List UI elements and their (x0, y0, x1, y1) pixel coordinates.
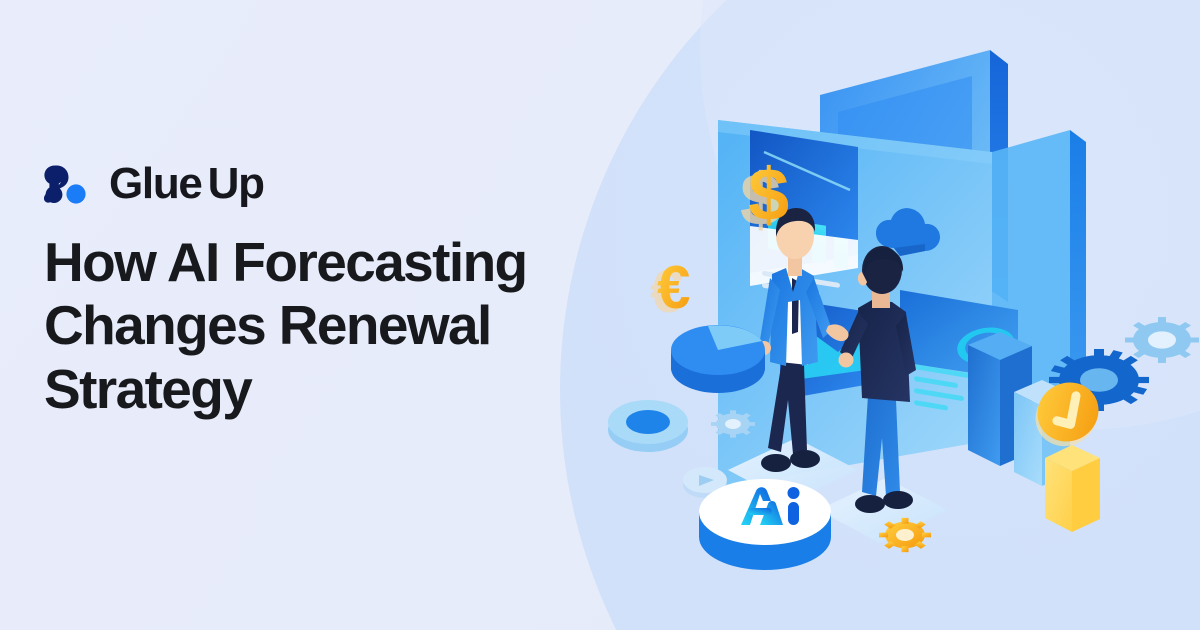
headline-line-1: How AI Forecasting (44, 231, 624, 294)
glueup-molecule-logo-icon (44, 163, 96, 205)
hero-illustration: $ $ € € (600, 40, 1200, 610)
brand-name-part2: Up (208, 159, 264, 208)
euro-sign-icon: € € (650, 254, 690, 325)
svg-text:€: € (657, 254, 690, 321)
headline-line-2: Changes Renewal (44, 294, 624, 357)
gear-icon-small (1125, 317, 1199, 363)
headline-line-3: Strategy (44, 358, 624, 421)
text-column: GlueUp How AI Forecasting Changes Renewa… (44, 158, 644, 421)
banner-root: GlueUp How AI Forecasting Changes Renewa… (0, 0, 1200, 630)
page-title: How AI Forecasting Changes Renewal Strat… (44, 231, 624, 421)
gear-icon-orange (879, 518, 931, 552)
torus-ring (608, 400, 688, 452)
ai-badge-disc[interactable] (699, 479, 831, 570)
pie-chart-3d (671, 325, 765, 393)
gear-icon-tiny (711, 410, 755, 437)
brand-name-part1: Glue (109, 159, 202, 208)
dollar-sign-icon: $ $ (740, 153, 789, 241)
brand-wordmark: GlueUp (109, 162, 264, 206)
brand-logo[interactable]: GlueUp (44, 158, 644, 210)
svg-text:$: $ (748, 153, 789, 236)
